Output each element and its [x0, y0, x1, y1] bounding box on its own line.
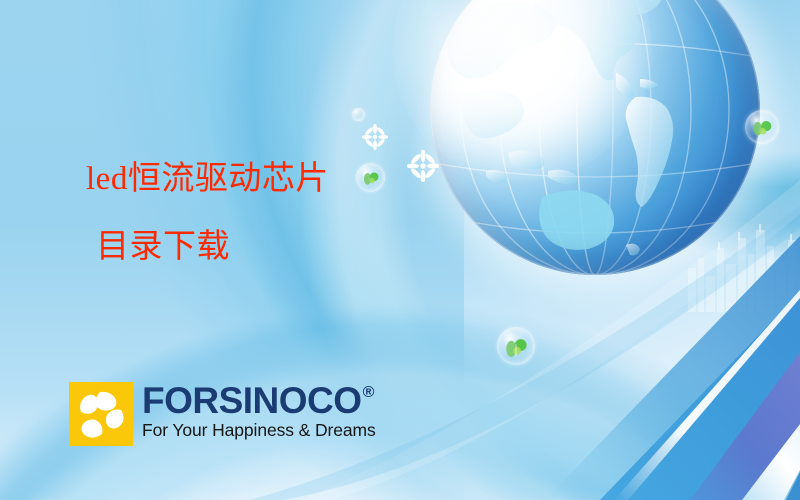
pinwheel-flower-icon	[69, 382, 133, 446]
promo-banner: led恒流驱动芯片 目录下载 FORSINOCO® For Your Happi…	[0, 0, 800, 500]
logo-tagline: For Your Happiness & Dreams	[142, 420, 376, 441]
logo-wordmark: FORSINOCO®	[142, 383, 376, 419]
headline-block: led恒流驱动芯片 目录下载	[86, 163, 486, 264]
headline-line-2: 目录下载	[96, 231, 486, 264]
logo-text-block: FORSINOCO® For Your Happiness & Dreams	[142, 382, 376, 441]
registered-trademark-symbol: ®	[363, 385, 374, 401]
company-logo[interactable]: FORSINOCO® For Your Happiness & Dreams	[69, 382, 376, 446]
logo-mark-tile	[69, 382, 133, 446]
headline-line-1: led恒流驱动芯片	[86, 163, 486, 196]
logo-wordmark-text: FORSINOCO	[142, 383, 362, 419]
